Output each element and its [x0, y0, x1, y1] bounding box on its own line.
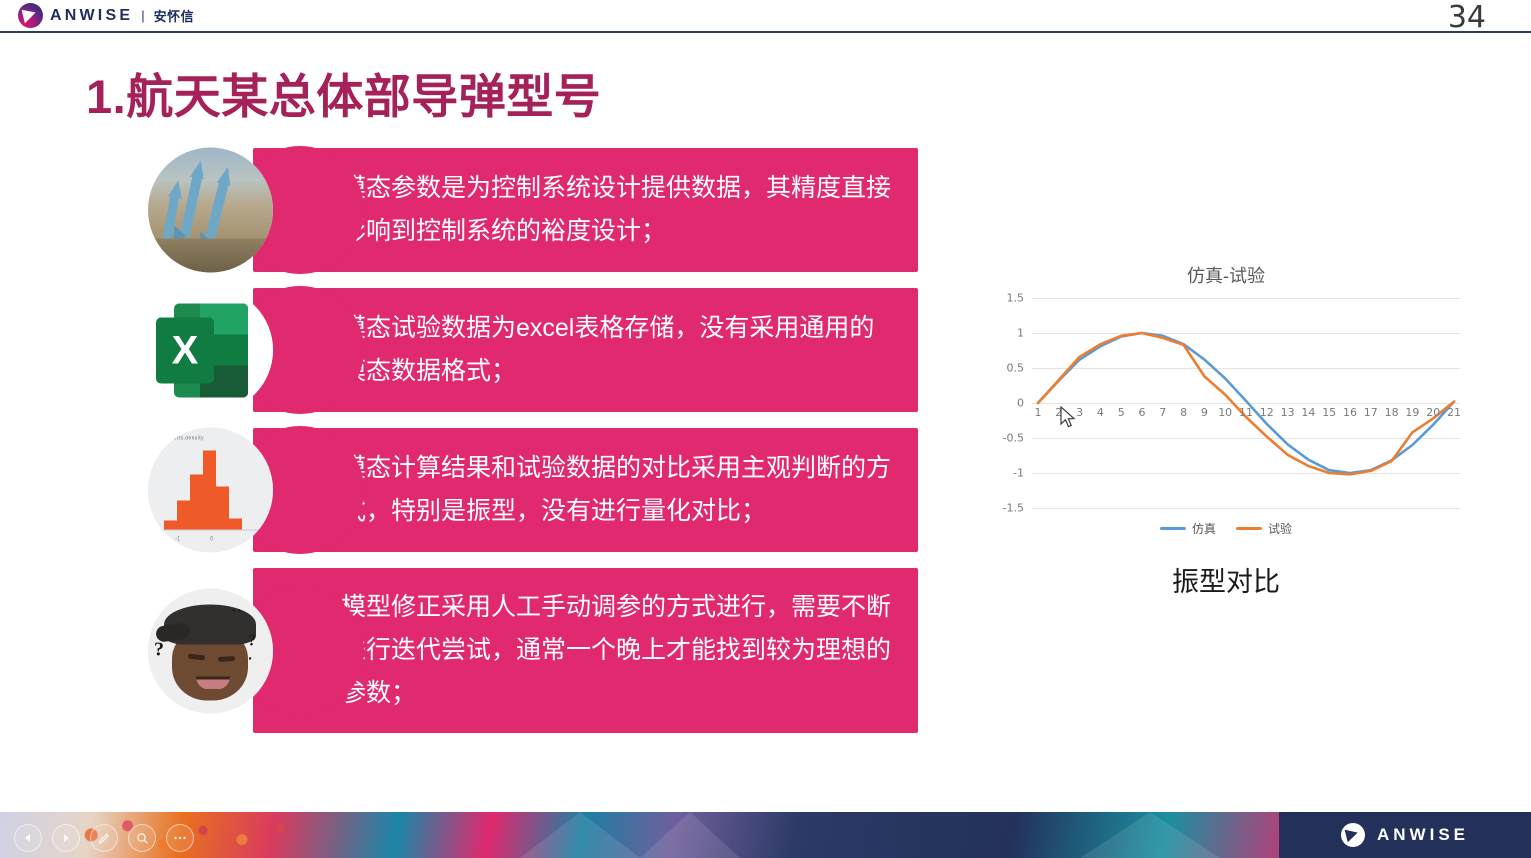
- chart-legend: 仿真试验: [992, 520, 1460, 537]
- slideshow-controls[interactable]: [14, 824, 194, 852]
- chart-title: 仿真-试验: [992, 262, 1460, 288]
- series-line: [1038, 333, 1454, 474]
- list-item: X 模态试验数据为excel表格存储，没有采用通用的模态数据格式；: [148, 288, 918, 412]
- legend-swatch: [1160, 527, 1186, 530]
- slide-footer-band: ANWISE: [0, 812, 1531, 858]
- chart-series-paths: [1032, 298, 1460, 508]
- anwise-logo: ANWISE | 安怀信: [18, 3, 194, 28]
- x-tick-label: 6: [1139, 406, 1146, 419]
- legend-item: 仿真: [1160, 520, 1216, 537]
- histogram-tick-right: 0: [210, 537, 213, 543]
- bullet-text: 模型修正采用人工手动调参的方式进行，需要不断进行迭代尝试，通常一个晚上才能找到较…: [341, 586, 896, 715]
- decorative-triangle: [1080, 812, 1220, 858]
- question-mark-right: ?: [248, 632, 256, 650]
- confused-face-photo-icon: ? ? ·· ·: [148, 588, 273, 713]
- legend-label: 仿真: [1192, 520, 1216, 537]
- anwise-mark-icon: [18, 3, 43, 28]
- legend-swatch: [1236, 527, 1262, 530]
- page-title: 1.航天某总体部导弹型号: [86, 58, 601, 127]
- y-tick-label: -1.5: [1003, 502, 1024, 515]
- more-options-button[interactable]: [166, 824, 194, 852]
- x-tick-label: 9: [1201, 406, 1208, 419]
- previous-slide-button[interactable]: [14, 824, 42, 852]
- x-tick-label: 18: [1385, 406, 1399, 419]
- brand-chinese-name: 安怀信: [154, 6, 195, 25]
- legend-label: 试验: [1268, 520, 1292, 537]
- x-tick-label: 4: [1097, 406, 1104, 419]
- decorative-triangle: [520, 812, 640, 858]
- list-item: 模态参数是为控制系统设计提供数据，其精度直接影响到控制系统的裕度设计；: [148, 148, 918, 272]
- bullet-text: 模态试验数据为excel表格存储，没有采用通用的模态数据格式；: [341, 307, 896, 393]
- histogram-thumbnail-icon: Imports.density -1 0: [148, 428, 273, 553]
- gridline: [1032, 508, 1460, 509]
- x-tick-label: 12: [1260, 406, 1274, 419]
- series-line: [1038, 333, 1454, 473]
- y-tick-label: -0.5: [1003, 432, 1024, 445]
- x-tick-label: 7: [1159, 406, 1166, 419]
- x-tick-label: 14: [1301, 406, 1315, 419]
- y-tick-label: 0.5: [1007, 362, 1025, 375]
- y-tick-label: -1: [1013, 467, 1024, 480]
- pen-tool-button[interactable]: [90, 824, 118, 852]
- chart-x-axis: 123456789101112131415161718192021: [1032, 406, 1460, 422]
- header-divider: [0, 31, 1531, 33]
- x-tick-label: 15: [1322, 406, 1336, 419]
- x-tick-label: 19: [1405, 406, 1419, 419]
- chart-y-axis: 1.510.50-0.5-1-1.5: [992, 298, 1028, 508]
- comparison-chart: 仿真-试验 1.510.50-0.5-1-1.5 123456789101112…: [992, 262, 1460, 537]
- presentation-slide: ANWISE | 安怀信 34 1.航天某总体部导弹型号: [0, 0, 1531, 858]
- x-tick-label: 20: [1426, 406, 1440, 419]
- page-number: 34: [1448, 0, 1486, 35]
- slide-header: ANWISE | 安怀信 34: [0, 0, 1531, 34]
- y-tick-label: 1.5: [1007, 292, 1025, 305]
- decorative-triangle: [640, 812, 740, 858]
- histogram-tick-left: -1: [175, 537, 180, 543]
- bullet-list: 模态参数是为控制系统设计提供数据，其精度直接影响到控制系统的裕度设计； X 模态…: [148, 148, 918, 749]
- x-tick-label: 13: [1281, 406, 1295, 419]
- x-tick-label: 1: [1035, 406, 1042, 419]
- x-tick-label: 17: [1364, 406, 1378, 419]
- footer-anwise-logo: ANWISE: [1279, 812, 1531, 858]
- chart-caption: 振型对比: [992, 560, 1460, 599]
- list-item: ? ? ·· · 模型修正采用人工手动调参的方式进行，需要不断进行迭代尝试，通常…: [148, 568, 918, 733]
- x-tick-label: 16: [1343, 406, 1357, 419]
- excel-icon: X: [148, 288, 273, 413]
- next-slide-button[interactable]: [52, 824, 80, 852]
- x-tick-label: 5: [1118, 406, 1125, 419]
- x-tick-label: 10: [1218, 406, 1232, 419]
- histogram-caption: Imports.density: [164, 436, 204, 442]
- bullet-text: 模态参数是为控制系统设计提供数据，其精度直接影响到控制系统的裕度设计；: [341, 167, 896, 253]
- x-tick-label: 8: [1180, 406, 1187, 419]
- zoom-tool-button[interactable]: [128, 824, 156, 852]
- list-item: Imports.density -1 0 模态计算结果和试验数据的对比采用主观判…: [148, 428, 918, 552]
- y-tick-label: 1: [1017, 327, 1024, 340]
- question-mark-left: ?: [154, 638, 164, 661]
- brand-separator: |: [141, 8, 144, 23]
- brand-wordmark: ANWISE: [50, 7, 133, 25]
- chart-plot-area: 1.510.50-0.5-1-1.5 123456789101112131415…: [992, 298, 1460, 508]
- y-tick-label: 0: [1017, 397, 1024, 410]
- x-tick-label: 11: [1239, 406, 1253, 419]
- footer-brand-wordmark: ANWISE: [1377, 825, 1469, 845]
- legend-item: 试验: [1236, 520, 1292, 537]
- anwise-mark-icon: [1341, 823, 1365, 847]
- mouse-cursor-icon: [1060, 406, 1078, 430]
- x-tick-label: 21: [1447, 406, 1461, 419]
- missile-photo-icon: [148, 148, 273, 273]
- chart-canvas: 123456789101112131415161718192021: [1032, 298, 1460, 508]
- bullet-text: 模态计算结果和试验数据的对比采用主观判断的方式，特别是振型，没有进行量化对比；: [341, 447, 896, 533]
- excel-letter: X: [156, 318, 214, 384]
